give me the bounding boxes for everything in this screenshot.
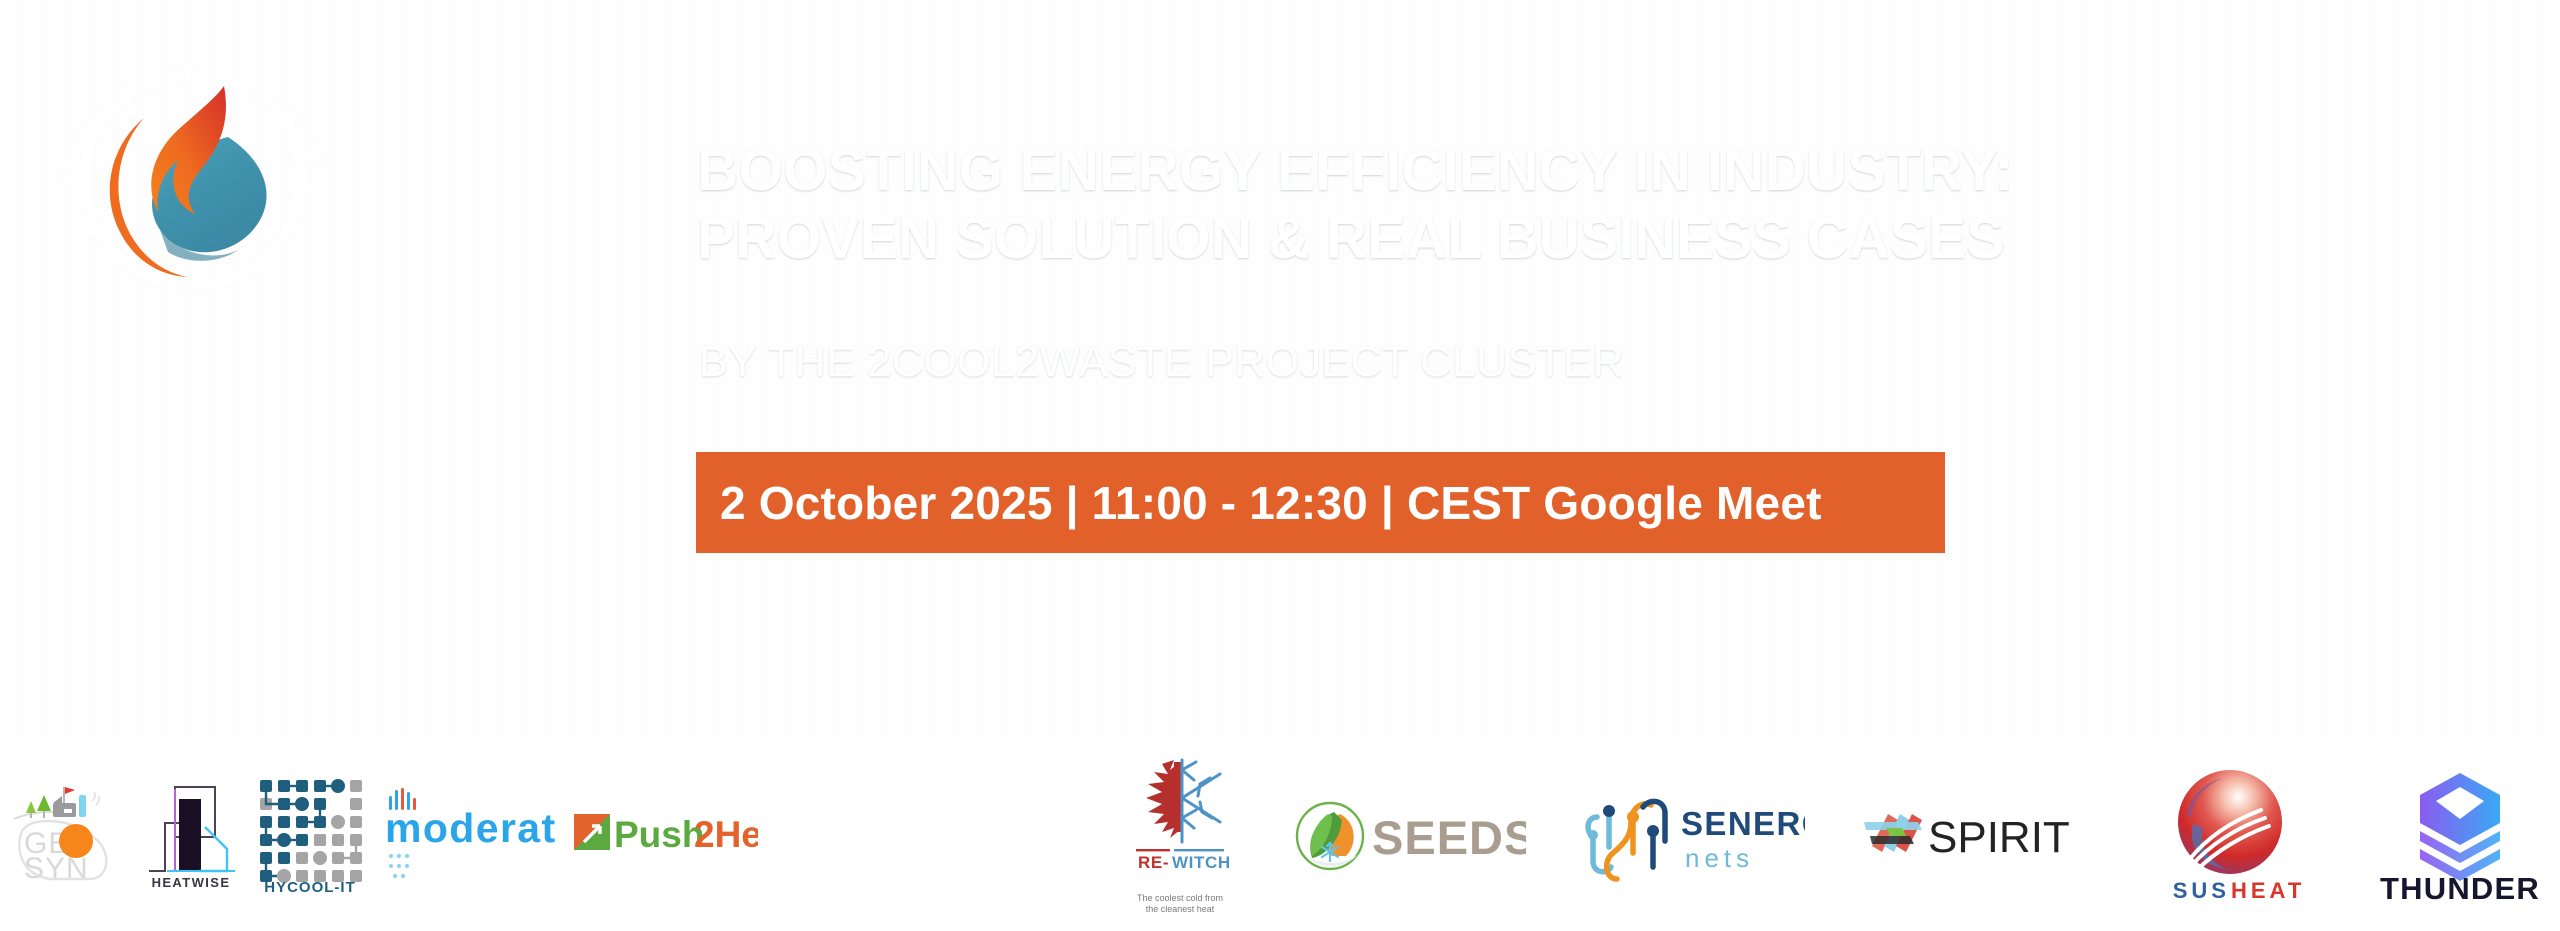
2cool2waste-logo: 2COOL2WASTE INITIATIVE	[48, 22, 338, 312]
susheat-wordmark-a: SUS	[2173, 878, 2230, 903]
heatwise-wordmark: HEATWISE	[152, 875, 231, 890]
subtitle: BY THE 2COOL2WASTE PROJECT CLUSTER	[699, 337, 1624, 387]
re-witch-wordmark-a: RE-	[1138, 853, 1169, 872]
partner-logo-seeds[interactable]: SEEDS	[1290, 739, 1530, 931]
event-datetime-badge: 2 October 2025 | 11:00 - 12:30 | CEST Go…	[696, 452, 1945, 553]
partner-logo-susheat[interactable]: SUS HEAT	[2130, 739, 2330, 931]
event-datetime-text: 2 October 2025 | 11:00 - 12:30 | CEST Go…	[720, 478, 1822, 528]
partner-logo-strip: GEO SYN HEATWISE	[0, 739, 2560, 931]
re-witch-wordmark-b: WITCH	[1172, 853, 1231, 872]
sun-half	[1146, 760, 1182, 838]
geosyn-factory	[53, 787, 76, 817]
partner-logo-senergy-nets[interactable]: SENERGY nets	[1578, 739, 1808, 931]
partner-logo-moderator[interactable]: moderator	[380, 739, 560, 931]
partner-logo-geosyn[interactable]: GEO SYN	[2, 739, 122, 931]
senergy-wordmark: SENERGY	[1681, 805, 1805, 842]
partner-logo-push2heat[interactable]: Push 2Heat	[570, 739, 760, 931]
re-witch-tagline-line-1: The coolest cold from	[1137, 893, 1223, 904]
susheat-wordmark-b: HEAT	[2231, 878, 2305, 903]
title-line-2: PROVEN SOLUTION & REAL BUSINESS CASES	[697, 205, 2194, 273]
hycool-it-wordmark: HYCOOL-IT	[264, 879, 356, 894]
event-banner: 2COOL2WASTE INITIATIVE BOOSTING ENERGY E…	[0, 0, 2560, 931]
re-witch-tagline-line-2: the cleanest heat	[1137, 904, 1223, 915]
partner-logo-re-witch[interactable]: RE- WITCH The coolest cold from the clea…	[1120, 739, 1240, 931]
partner-logo-heatwise[interactable]: HEATWISE	[136, 739, 246, 931]
spirit-wordmark: SPIRIT	[1928, 813, 2070, 862]
partner-logo-hycool-it[interactable]: HYCOOL-IT	[250, 739, 370, 931]
push2heat-wordmark-b: 2Heat	[694, 814, 758, 855]
partner-logo-thunder[interactable]: THUNDER	[2360, 739, 2560, 931]
snowflake-half	[1182, 760, 1220, 842]
re-witch-tagline: The coolest cold from the cleanest heat	[1137, 893, 1223, 915]
push2heat-wordmark-a: Push	[614, 814, 704, 855]
page-title: BOOSTING ENERGY EFFICIENCY IN INDUSTRY: …	[697, 137, 2217, 273]
senergy-nets-wordmark: nets	[1685, 843, 1754, 873]
title-line-1: BOOSTING ENERGY EFFICIENCY IN INDUSTRY:	[697, 137, 2194, 205]
thunder-wordmark: THUNDER	[2380, 871, 2540, 905]
seeds-wordmark: SEEDS	[1372, 811, 1526, 864]
moderator-wordmark: moderator	[385, 805, 557, 851]
partner-logo-spirit[interactable]: SPIRIT	[1855, 739, 2075, 931]
